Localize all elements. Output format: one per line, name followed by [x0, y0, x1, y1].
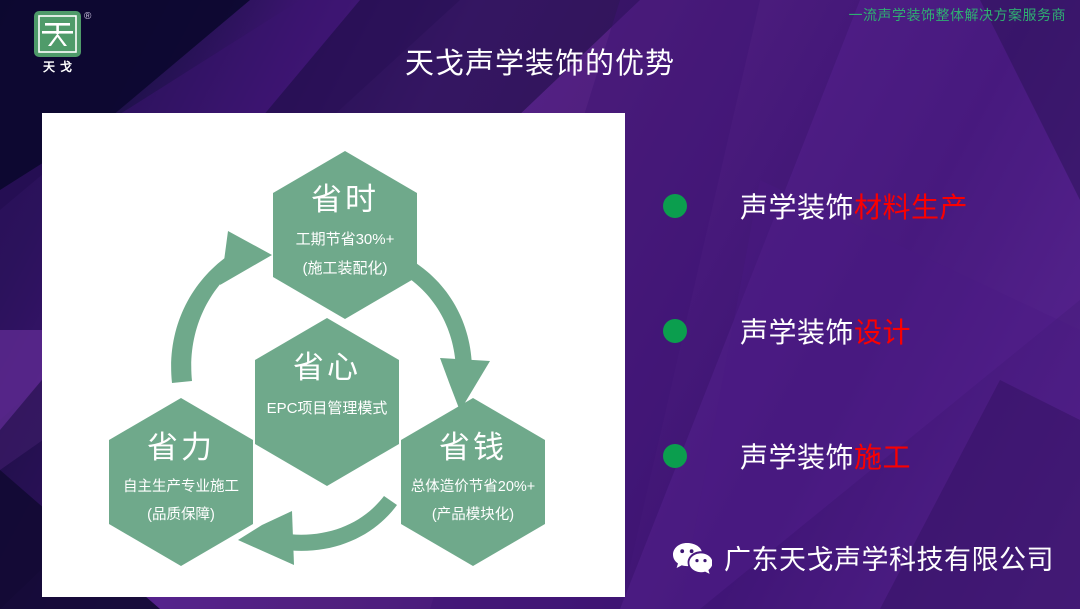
- footer-company: 广东天戈声学科技有限公司: [672, 538, 1054, 577]
- arrow-top-to-right-icon: [398, 257, 490, 411]
- hex-node-center: 省心 EPC项目管理模式: [255, 318, 399, 486]
- bullet-highlight-1: 材料生产: [854, 192, 968, 223]
- bullet-dot-icon: [663, 319, 687, 343]
- hex-top-line-1: 工期节省30%+: [296, 231, 395, 248]
- bullet-dot-icon: [663, 444, 687, 468]
- slide-root: ® 天戈 一流声学装饰整体解决方案服务商 天戈声学装饰的优势 省时: [0, 0, 1080, 609]
- hex-center-title: 省心: [293, 350, 361, 385]
- bullet-text-construction: 声学装饰施工: [740, 436, 911, 476]
- hex-node-left: 省力 自主生产专业施工 (品质保障): [109, 398, 253, 566]
- hex-node-top: 省时 工期节省30%+ (施工装配化): [273, 151, 417, 319]
- header-tagline: 一流声学装饰整体解决方案服务商: [849, 5, 1067, 25]
- hex-top-line-2: (施工装配化): [303, 260, 388, 277]
- hex-right-line-2: (产品模块化): [432, 506, 514, 523]
- bullet-highlight-2: 设计: [854, 317, 911, 348]
- hex-left-line-2: (品质保障): [147, 505, 215, 523]
- bullet-prefix-1: 声学装饰: [740, 192, 854, 223]
- bullet-dot-icon: [663, 194, 687, 218]
- bullet-prefix-3: 声学装饰: [740, 442, 854, 473]
- bullet-text-design: 声学装饰设计: [740, 311, 911, 351]
- bullet-highlight-3: 施工: [854, 442, 911, 473]
- bullet-item-design: 声学装饰设计: [663, 300, 1073, 362]
- advantages-bullet-list: 声学装饰材料生产 声学装饰设计 声学装饰施工: [663, 175, 1073, 550]
- hex-left-line-1: 自主生产专业施工: [123, 478, 239, 495]
- hex-center-line-1: EPC项目管理模式: [267, 400, 388, 417]
- footer-company-name: 广东天戈声学科技有限公司: [724, 538, 1054, 577]
- bullet-text-material: 声学装饰材料生产: [740, 186, 968, 226]
- hex-left-title: 省力: [147, 430, 215, 465]
- bullet-item-material: 声学装饰材料生产: [663, 175, 1073, 237]
- arrow-right-to-left-icon: [238, 496, 397, 565]
- wechat-icon: [672, 541, 712, 575]
- bullet-item-construction: 声学装饰施工: [663, 425, 1073, 487]
- hex-top-title: 省时: [311, 182, 379, 217]
- hex-right-line-1: 总体造价节省20%+: [411, 478, 536, 495]
- bullet-prefix-2: 声学装饰: [740, 317, 854, 348]
- hex-node-right: 省钱 总体造价节省20%+ (产品模块化): [401, 398, 545, 566]
- page-title: 天戈声学装饰的优势: [0, 40, 1080, 82]
- hex-right-title: 省钱: [439, 430, 507, 465]
- advantages-diagram: 省时 工期节省30%+ (施工装配化) 省心 EPC项目管理模式 省力 自主生产…: [42, 113, 625, 597]
- registered-mark: ®: [84, 12, 91, 22]
